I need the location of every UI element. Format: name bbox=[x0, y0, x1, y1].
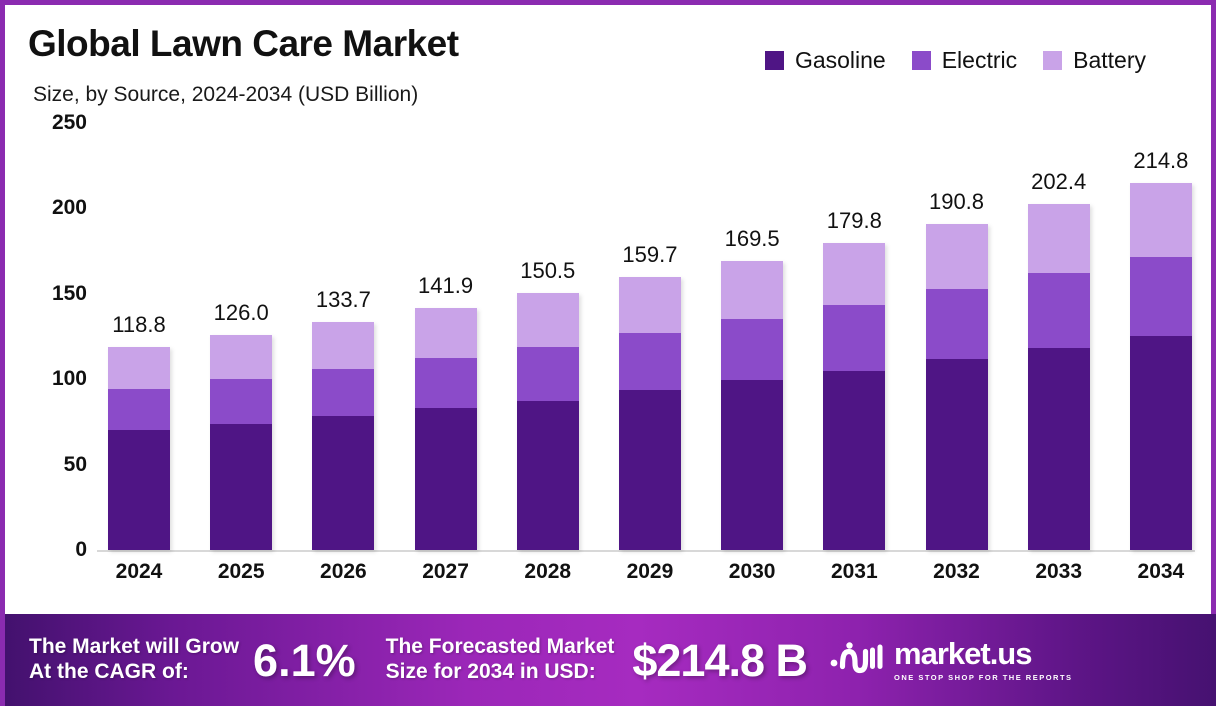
bar-segment-battery[interactable] bbox=[210, 335, 272, 379]
legend-label: Battery bbox=[1073, 47, 1146, 74]
bar-segment-electric[interactable] bbox=[721, 319, 783, 380]
infographic-container: Global Lawn Care Market Size, by Source,… bbox=[0, 0, 1216, 706]
bar-segment-electric[interactable] bbox=[619, 333, 681, 390]
bar-segment-battery[interactable] bbox=[823, 243, 885, 305]
bar-group[interactable]: 150.5 bbox=[510, 123, 586, 550]
bar-group[interactable]: 133.7 bbox=[305, 123, 381, 550]
bar-segment-battery[interactable] bbox=[619, 277, 681, 333]
bar-segment-gasoline[interactable] bbox=[108, 430, 170, 550]
bar-segment-battery[interactable] bbox=[721, 261, 783, 319]
forecast-size-label-line1: The Forecasted Market bbox=[386, 635, 615, 658]
market-us-logo-icon bbox=[829, 641, 885, 680]
chart-header: Global Lawn Care Market Size, by Source,… bbox=[5, 5, 1211, 123]
y-axis-tick: 150 bbox=[52, 282, 87, 306]
bar-segment-battery[interactable] bbox=[312, 322, 374, 369]
bar-segment-gasoline[interactable] bbox=[210, 424, 272, 550]
x-axis-tick-2030: 2030 bbox=[714, 560, 790, 584]
bar-segment-electric[interactable] bbox=[415, 358, 477, 408]
bar-group[interactable]: 141.9 bbox=[408, 123, 484, 550]
cagr-label-line1: The Market will Grow bbox=[29, 635, 239, 658]
legend-item-electric[interactable]: Electric bbox=[912, 47, 1017, 74]
x-axis-tick-2032: 2032 bbox=[919, 560, 995, 584]
bar-stack[interactable] bbox=[108, 347, 170, 550]
bar-segment-battery[interactable] bbox=[926, 224, 988, 289]
bar-group[interactable]: 159.7 bbox=[612, 123, 688, 550]
bar-stack[interactable] bbox=[721, 261, 783, 551]
bar-segment-gasoline[interactable] bbox=[1028, 348, 1090, 550]
y-axis-tick: 0 bbox=[75, 538, 87, 562]
bar-value-label: 169.5 bbox=[725, 226, 780, 252]
forecast-size-block: The Forecasted Market Size for 2034 in U… bbox=[356, 635, 807, 685]
x-axis-tick-2029: 2029 bbox=[612, 560, 688, 584]
bar-stack[interactable] bbox=[517, 293, 579, 550]
y-axis-tick: 50 bbox=[64, 453, 87, 477]
bar-segment-gasoline[interactable] bbox=[721, 380, 783, 550]
x-axis-tick-2025: 2025 bbox=[203, 560, 279, 584]
x-axis-tick-2028: 2028 bbox=[510, 560, 586, 584]
forecast-size-label-line2: Size for 2034 in USD: bbox=[386, 660, 596, 683]
bar-segment-gasoline[interactable] bbox=[823, 371, 885, 550]
bar-segment-gasoline[interactable] bbox=[1130, 336, 1192, 550]
x-axis-tick-2024: 2024 bbox=[101, 560, 177, 584]
bar-stack[interactable] bbox=[823, 243, 885, 550]
bar-value-label: 202.4 bbox=[1031, 169, 1086, 195]
bar-series-group: 118.8126.0133.7141.9150.5159.7169.5179.8… bbox=[101, 123, 1199, 550]
page-title: Global Lawn Care Market bbox=[28, 23, 459, 65]
chart-subtitle: Size, by Source, 2024-2034 (USD Billion) bbox=[33, 83, 418, 107]
bar-segment-electric[interactable] bbox=[823, 305, 885, 371]
bar-stack[interactable] bbox=[1130, 183, 1192, 550]
x-axis-tick-2033: 2033 bbox=[1021, 560, 1097, 584]
bar-segment-electric[interactable] bbox=[312, 369, 374, 416]
bar-segment-gasoline[interactable] bbox=[517, 401, 579, 550]
legend-swatch-icon bbox=[765, 51, 784, 70]
brand-logo[interactable]: market.us ONE STOP SHOP FOR THE REPORTS bbox=[829, 638, 1073, 682]
bar-stack[interactable] bbox=[1028, 204, 1090, 550]
y-axis-tick: 200 bbox=[52, 196, 87, 220]
bar-value-label: 159.7 bbox=[622, 242, 677, 268]
bar-group[interactable]: 179.8 bbox=[816, 123, 892, 550]
bar-stack[interactable] bbox=[619, 277, 681, 550]
bar-stack[interactable] bbox=[415, 308, 477, 550]
x-axis-tick-2034: 2034 bbox=[1123, 560, 1199, 584]
bar-value-label: 150.5 bbox=[520, 258, 575, 284]
bar-group[interactable]: 202.4 bbox=[1021, 123, 1097, 550]
bar-value-label: 190.8 bbox=[929, 189, 984, 215]
bar-segment-electric[interactable] bbox=[210, 379, 272, 423]
legend-item-gasoline[interactable]: Gasoline bbox=[765, 47, 886, 74]
bar-segment-electric[interactable] bbox=[517, 347, 579, 401]
x-axis-tick-2031: 2031 bbox=[816, 560, 892, 584]
bar-value-label: 126.0 bbox=[214, 300, 269, 326]
cagr-label-line2: At the CAGR of: bbox=[29, 660, 189, 683]
bar-stack[interactable] bbox=[926, 224, 988, 550]
bar-segment-gasoline[interactable] bbox=[619, 390, 681, 550]
x-axis-line bbox=[97, 550, 1195, 552]
footer-banner: The Market will Grow At the CAGR of: 6.1… bbox=[5, 614, 1216, 706]
bar-group[interactable]: 169.5 bbox=[714, 123, 790, 550]
y-axis-tick: 100 bbox=[52, 367, 87, 391]
bar-group[interactable]: 190.8 bbox=[919, 123, 995, 550]
legend-swatch-icon bbox=[1043, 51, 1062, 70]
y-axis: 050100150200250 bbox=[5, 123, 97, 550]
brand-text: market.us ONE STOP SHOP FOR THE REPORTS bbox=[894, 638, 1073, 682]
x-axis: 2024202520262027202820292030203120322033… bbox=[101, 560, 1199, 584]
bar-segment-battery[interactable] bbox=[415, 308, 477, 358]
bar-group[interactable]: 126.0 bbox=[203, 123, 279, 550]
forecast-size-value: $214.8 B bbox=[632, 638, 807, 683]
bar-segment-gasoline[interactable] bbox=[415, 408, 477, 550]
bar-segment-battery[interactable] bbox=[1028, 204, 1090, 273]
brand-name: market.us bbox=[894, 638, 1073, 669]
bar-segment-battery[interactable] bbox=[108, 347, 170, 389]
cagr-value: 6.1% bbox=[253, 638, 356, 683]
bar-segment-battery[interactable] bbox=[517, 293, 579, 347]
chart-legend: GasolineElectricBattery bbox=[765, 47, 1146, 74]
plot-area: 050100150200250 118.8126.0133.7141.9150.… bbox=[5, 123, 1211, 615]
brand-tagline: ONE STOP SHOP FOR THE REPORTS bbox=[894, 673, 1073, 682]
bar-segment-electric[interactable] bbox=[108, 389, 170, 430]
legend-label: Electric bbox=[942, 47, 1017, 74]
bar-segment-electric[interactable] bbox=[1130, 257, 1192, 336]
bar-value-label: 179.8 bbox=[827, 208, 882, 234]
bar-segment-electric[interactable] bbox=[926, 289, 988, 359]
y-axis-tick: 250 bbox=[52, 111, 87, 135]
legend-item-battery[interactable]: Battery bbox=[1043, 47, 1146, 74]
bar-segment-battery[interactable] bbox=[1130, 183, 1192, 257]
bar-group[interactable]: 214.8 bbox=[1123, 123, 1199, 550]
x-axis-tick-2027: 2027 bbox=[408, 560, 484, 584]
forecast-size-label: The Forecasted Market Size for 2034 in U… bbox=[386, 635, 615, 685]
bar-stack[interactable] bbox=[210, 335, 272, 550]
bar-value-label: 141.9 bbox=[418, 273, 473, 299]
x-axis-tick-2026: 2026 bbox=[305, 560, 381, 584]
bar-value-label: 118.8 bbox=[112, 312, 165, 338]
bar-segment-electric[interactable] bbox=[1028, 273, 1090, 347]
legend-label: Gasoline bbox=[795, 47, 886, 74]
bar-value-label: 133.7 bbox=[316, 287, 371, 313]
cagr-label: The Market will Grow At the CAGR of: bbox=[29, 635, 239, 685]
legend-swatch-icon bbox=[912, 51, 931, 70]
cagr-block: The Market will Grow At the CAGR of: 6.1… bbox=[5, 635, 356, 685]
bar-value-label: 214.8 bbox=[1133, 148, 1188, 174]
bar-segment-gasoline[interactable] bbox=[926, 359, 988, 550]
bar-segment-gasoline[interactable] bbox=[312, 416, 374, 550]
bar-stack[interactable] bbox=[312, 322, 374, 550]
bar-group[interactable]: 118.8 bbox=[101, 123, 177, 550]
